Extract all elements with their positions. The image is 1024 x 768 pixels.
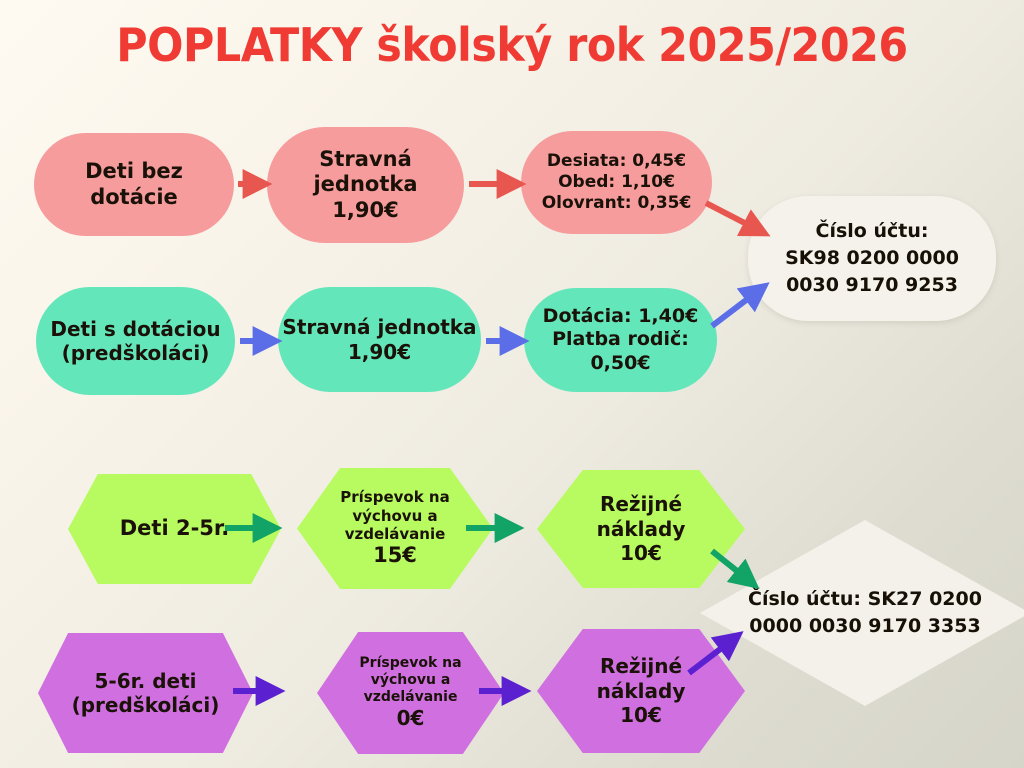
node-line: jednotka — [313, 172, 417, 198]
account-box-food: Číslo účtu: SK98 0200 0000 0030 9170 925… — [748, 196, 996, 321]
node-line: Obed: 1,10€ — [558, 172, 675, 193]
node-line: Príspevok na — [340, 488, 449, 506]
node-line: dotácie — [90, 185, 178, 211]
node-deti-5-6r: 5-6r. deti (predškoláci) — [38, 633, 253, 753]
account-line: 0030 9170 9253 — [786, 272, 958, 299]
node-line: 10€ — [620, 703, 662, 727]
node-prispevok-0: Príspevok na výchovu a vzdelávanie 0€ — [317, 632, 504, 754]
node-rezijne-naklady-lime: Režijné náklady 10€ — [537, 470, 745, 588]
node-line: Deti 2-5r. — [120, 516, 230, 542]
arrow-mint-to-account — [712, 288, 762, 326]
account-line: 0030 9170 3353 — [809, 615, 981, 637]
node-line: (predškoláci) — [72, 693, 220, 717]
node-line: 15€ — [373, 543, 417, 569]
node-line: vzdelávanie — [364, 689, 458, 706]
node-line: Platba rodič: — [552, 328, 689, 351]
node-rozpis-jedla: Desiata: 0,45€ Obed: 1,10€ Olovrant: 0,3… — [521, 131, 712, 234]
node-deti-s-dotaciou: Deti s dotáciou (predškoláci) — [36, 287, 235, 395]
node-stravna-jednotka-s-dotaciou: Stravná jednotka 1,90€ — [278, 287, 481, 392]
node-line: výchovu a — [371, 672, 451, 689]
node-deti-bez-dotacie: Deti bez dotácie — [34, 133, 234, 236]
node-line: Deti s dotáciou — [50, 317, 220, 341]
node-line: 1,90€ — [332, 198, 398, 224]
node-line: Stravná — [319, 147, 412, 173]
account-line: SK98 0200 0000 — [785, 245, 959, 272]
node-line: 0€ — [397, 706, 425, 730]
account-box-overhead: Číslo účtu: SK27 0200 0000 0030 9170 335… — [700, 520, 1024, 706]
node-line: výchovu a — [352, 507, 437, 525]
node-line: Deti bez — [85, 159, 183, 185]
node-deti-2-5r: Deti 2-5r. — [68, 474, 281, 584]
node-line: Dotácia: 1,40€ — [543, 305, 699, 328]
node-line: (predškoláci) — [62, 341, 210, 365]
node-prispevok-15: Príspevok na výchovu a vzdelávanie 15€ — [297, 468, 493, 589]
node-line: 10€ — [620, 541, 662, 565]
page-title: POPLATKY školský rok 2025/2026 — [36, 18, 988, 72]
node-line: Desiata: 0,45€ — [547, 151, 686, 172]
node-line: Stravná jednotka — [282, 315, 476, 339]
account-line: Číslo účtu: — [748, 588, 861, 610]
node-stravna-jednotka-bez-dotacie: Stravná jednotka 1,90€ — [267, 127, 464, 243]
node-line: náklady — [597, 679, 686, 703]
node-line: Režijné — [600, 492, 682, 516]
node-line: vzdelávanie — [345, 525, 446, 543]
node-rezijne-naklady-orchid: Režijné náklady 10€ — [537, 629, 745, 753]
node-line: náklady — [597, 517, 686, 541]
node-line: Olovrant: 0,35€ — [542, 193, 692, 214]
node-line: 5-6r. deti — [94, 669, 196, 693]
arrow-pink-to-account — [706, 203, 762, 232]
node-line: 1,90€ — [348, 340, 411, 364]
infographic-canvas: POPLATKY školský rok 2025/2026 Deti bez … — [0, 0, 1024, 768]
node-line: Režijné — [600, 654, 682, 678]
node-line: 0,50€ — [590, 352, 650, 375]
account-line: Číslo účtu: — [816, 218, 929, 245]
node-dotacia-platba: Dotácia: 1,40€ Platba rodič: 0,50€ — [524, 288, 717, 392]
account-overhead-text: Číslo účtu: SK27 0200 0000 0030 9170 335… — [723, 586, 1007, 640]
node-line: Príspevok na — [359, 655, 461, 672]
